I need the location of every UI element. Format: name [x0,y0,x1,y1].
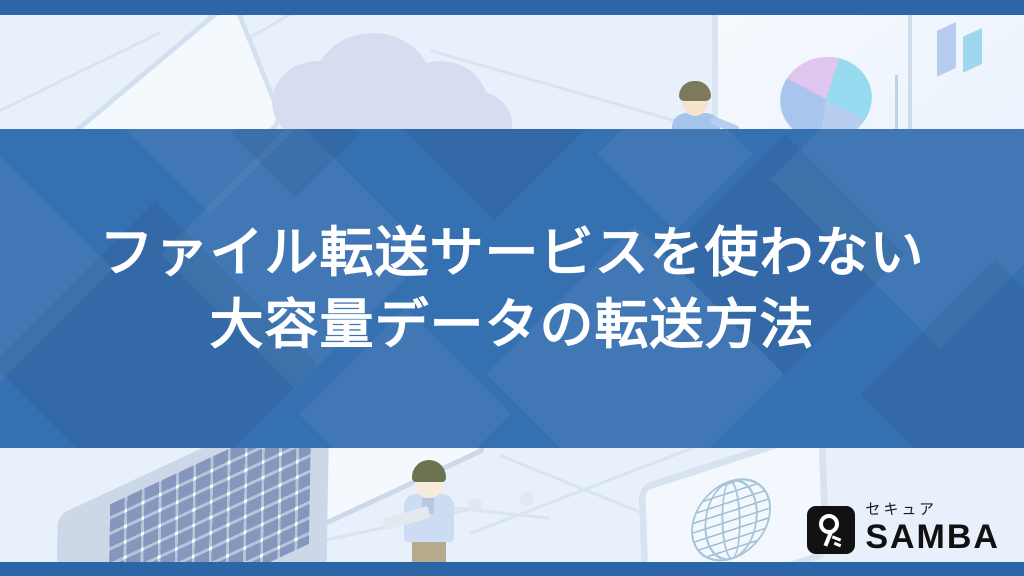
bar-chart-shape [937,22,956,77]
slide-canvas: ファイル転送サービスを使わない 大容量データの転送方法 セキュア SAMBA [0,0,1024,576]
logo-text-block: セキュア SAMBA [865,502,1000,554]
screen-edge-shape [908,15,912,129]
title-line-2: 大容量データの転送方法 [210,292,815,358]
globe-icon [690,467,773,562]
brand-logo: セキュア SAMBA [807,502,1000,554]
top-illustration-scene [0,15,1024,129]
title-banner: ファイル転送サービスを使わない 大容量データの転送方法 [0,129,1024,448]
presenter-person-illustration [672,77,724,129]
tablet-illustration [639,448,830,562]
network-node-dot [520,492,534,506]
title-block: ファイル転送サービスを使わない 大容量データの転送方法 [0,129,1024,448]
easel-pole-shape [895,75,898,129]
title-line-1: ファイル転送サービスを使わない [100,220,925,286]
keyboard-shape [108,448,312,562]
laptop-illustration [54,448,329,562]
bottom-accent-bar [0,562,1024,576]
logo-kana-label: セキュア [865,502,1000,517]
key-icon [807,506,855,554]
walking-person-illustration [398,460,462,560]
network-node-dot [468,498,482,512]
laptop-lid-illustration [35,15,285,129]
bar-chart-shape [963,28,982,73]
logo-wordmark: SAMBA [865,520,1000,554]
top-accent-bar [0,0,1024,15]
